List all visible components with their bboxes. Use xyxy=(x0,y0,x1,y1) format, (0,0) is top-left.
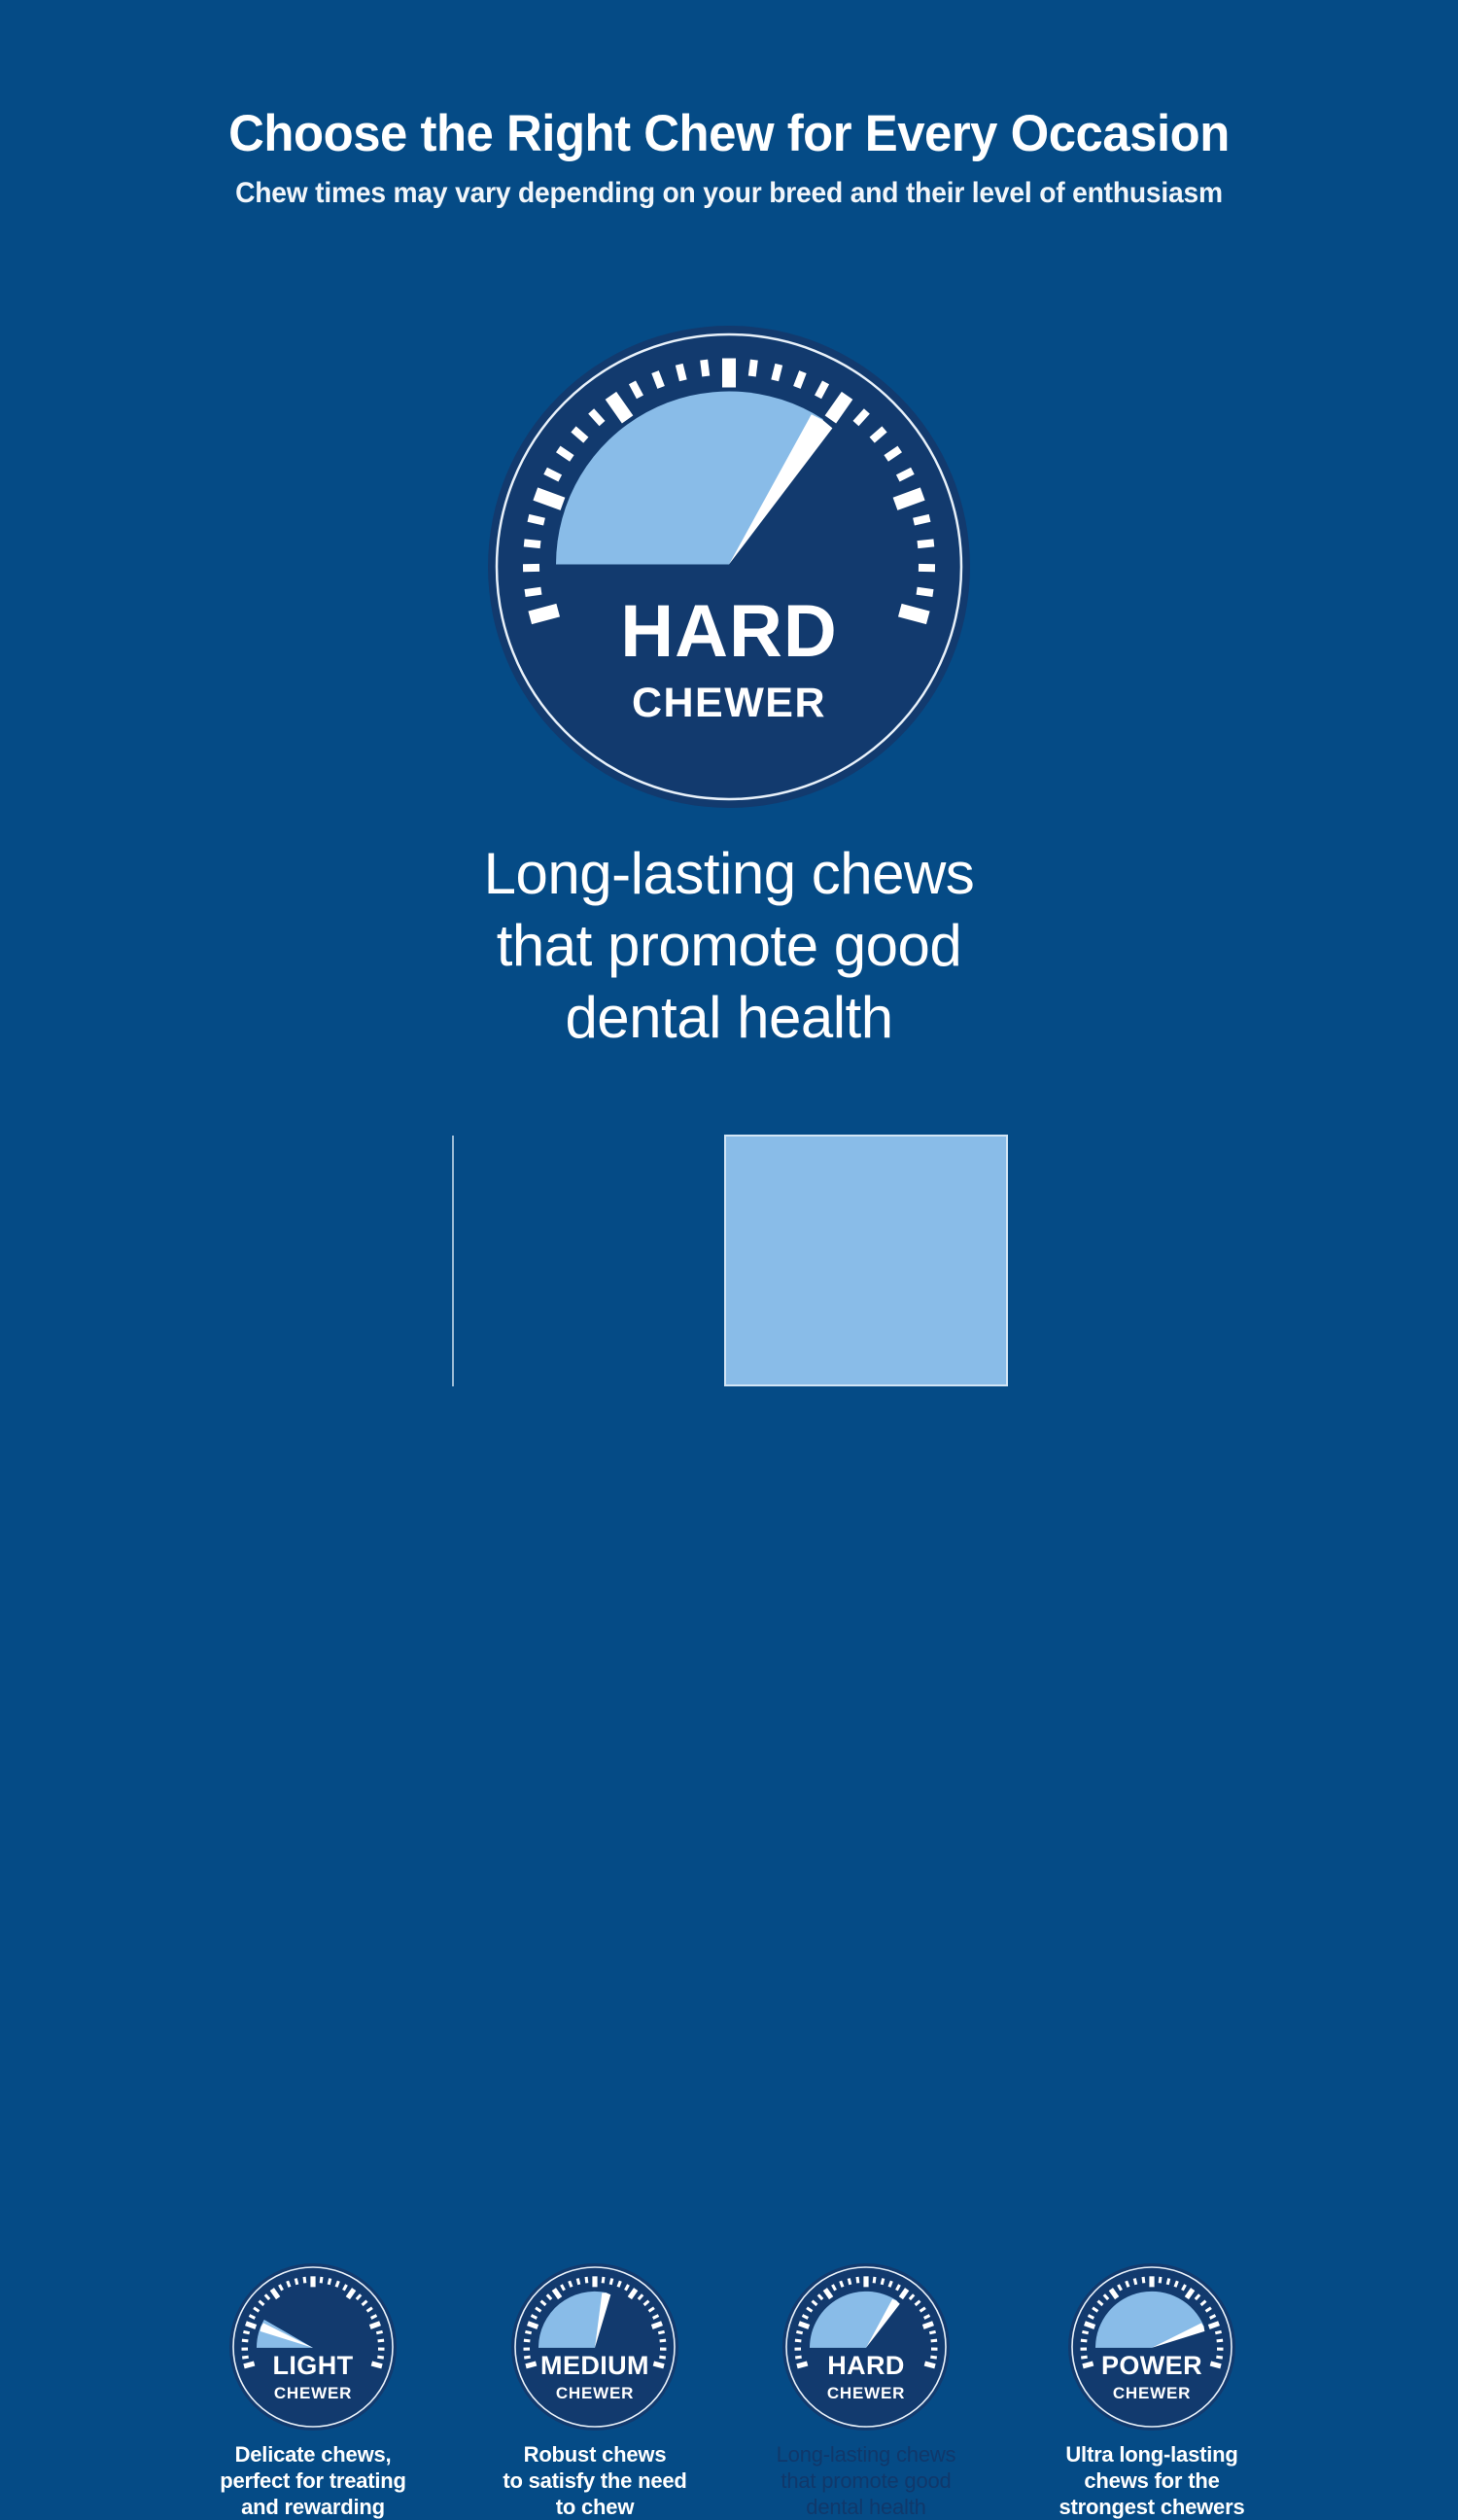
card-caption-line: that promote good xyxy=(747,2468,985,2495)
card-caption-line: to chew xyxy=(476,2495,713,2520)
card-caption: Robust chewsto satisfy the needto chew xyxy=(476,2442,713,2520)
card-caption: Long-lasting chewsthat promote gooddenta… xyxy=(747,2442,985,2520)
card-caption: Delicate chews,perfect for treatingand r… xyxy=(194,2442,432,2520)
mini-gauge-icon xyxy=(1068,2263,1235,2431)
chew-level-card-hard[interactable]: HARDCHEWERLong-lasting chewsthat promote… xyxy=(747,2263,985,2520)
hero-description-line: that promote good xyxy=(0,910,1458,982)
chew-level-card-medium[interactable]: MEDIUMCHEWERRobust chewsto satisfy the n… xyxy=(476,2263,713,2520)
mini-gauge-icon xyxy=(229,2263,397,2431)
card-caption-line: and rewarding xyxy=(194,2495,432,2520)
hero-gauge-icon xyxy=(488,326,970,808)
card-caption: Ultra long-lastingchews for thestrongest… xyxy=(1033,2442,1270,2520)
hero-description: Long-lasting chewsthat promote gooddenta… xyxy=(0,838,1458,1053)
page-title: Choose the Right Chew for Every Occasion xyxy=(29,107,1429,161)
card-caption-line: Robust chews xyxy=(476,2442,713,2468)
strip-divider xyxy=(452,1136,454,1386)
card-caption-line: dental health xyxy=(747,2495,985,2520)
chew-level-card-power[interactable]: POWERCHEWERUltra long-lastingchews for t… xyxy=(1033,2263,1270,2520)
hero-description-line: Long-lasting chews xyxy=(0,838,1458,910)
card-caption-line: perfect for treating xyxy=(194,2468,432,2495)
card-caption-line: Delicate chews, xyxy=(194,2442,432,2468)
mini-gauge-badge: POWERCHEWER xyxy=(1068,2263,1235,2431)
hero-chew-level-badge: HARD CHEWER xyxy=(488,326,970,808)
card-caption-line: Long-lasting chews xyxy=(747,2442,985,2468)
mini-gauge-badge: LIGHTCHEWER xyxy=(229,2263,397,2431)
mini-gauge-badge: MEDIUMCHEWER xyxy=(511,2263,678,2431)
mini-gauge-icon xyxy=(511,2263,678,2431)
hero-description-line: dental health xyxy=(0,982,1458,1054)
card-caption-line: chews for the xyxy=(1033,2468,1270,2495)
header: Choose the Right Chew for Every Occasion… xyxy=(0,107,1458,210)
card-caption-line: strongest chewers xyxy=(1033,2495,1270,2520)
mini-gauge-badge: HARDCHEWER xyxy=(782,2263,950,2431)
chew-level-card-light[interactable]: LIGHTCHEWERDelicate chews,perfect for tr… xyxy=(194,2263,432,2520)
card-caption-line: to satisfy the need xyxy=(476,2468,713,2495)
page-subtitle: Chew times may vary depending on your br… xyxy=(44,177,1414,210)
card-caption-line: Ultra long-lasting xyxy=(1033,2442,1270,2468)
mini-gauge-icon xyxy=(782,2263,950,2431)
selected-level-highlight xyxy=(724,1135,1008,1386)
